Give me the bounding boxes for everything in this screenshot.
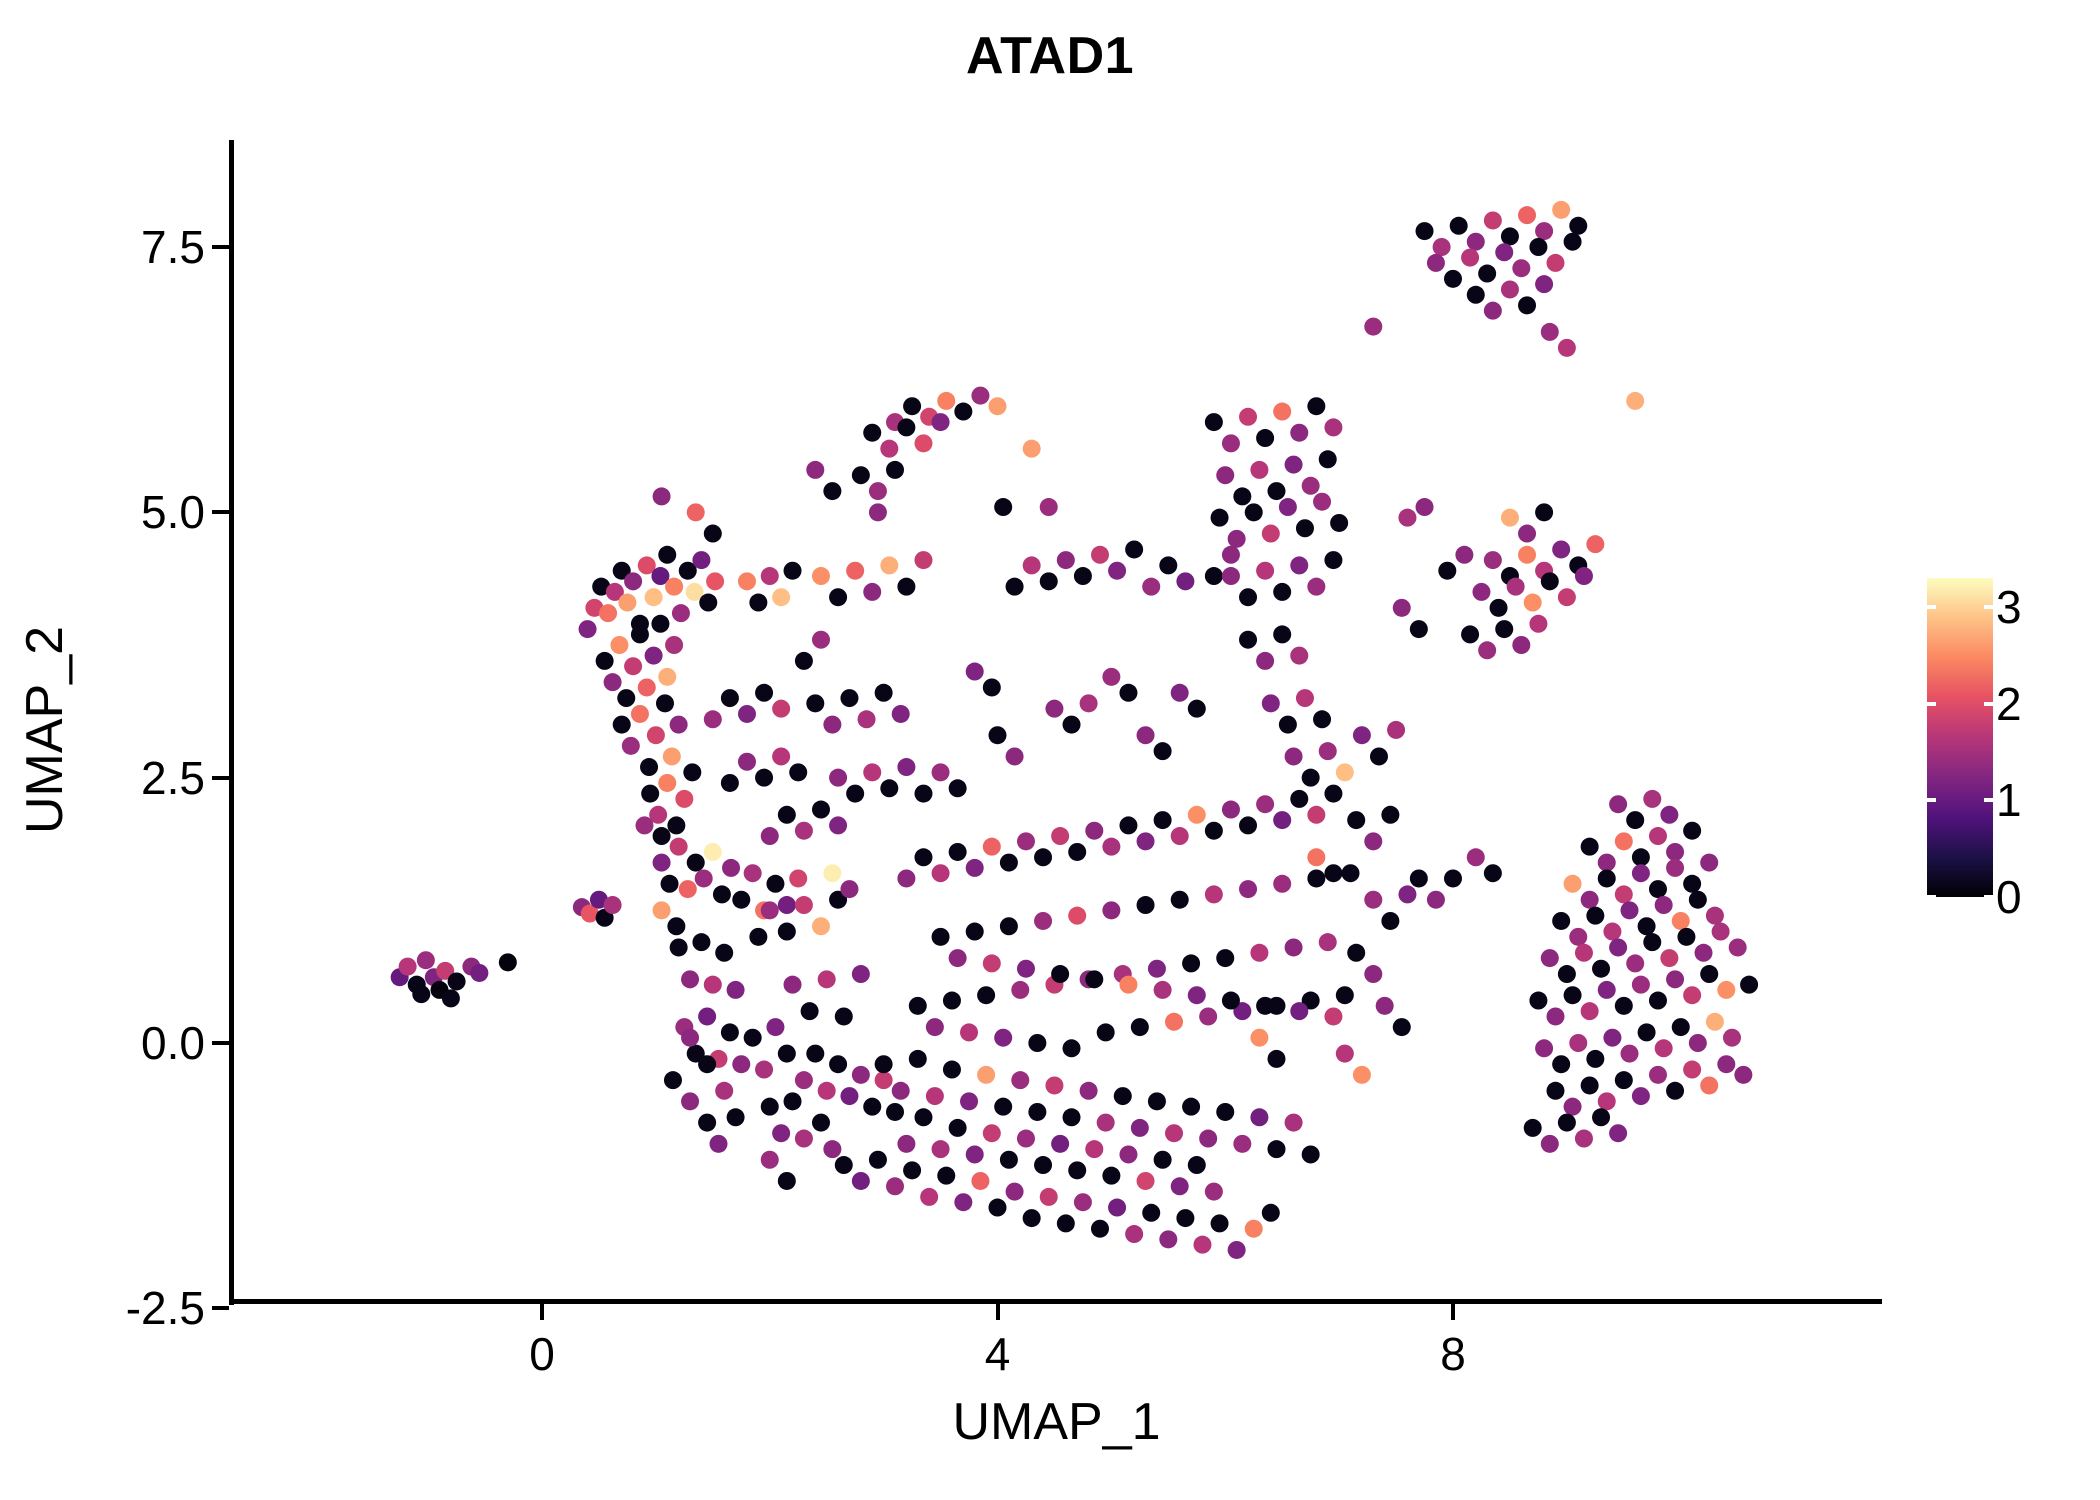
scatter-point (823, 1140, 841, 1158)
legend-tick-label: 0 (1996, 870, 2022, 924)
y-tick-mark (212, 1041, 229, 1045)
scatter-point (761, 567, 779, 585)
scatter-point (1564, 233, 1582, 251)
scatter-point (1302, 769, 1320, 787)
scatter-point (1313, 710, 1331, 728)
scatter-point (852, 1066, 870, 1084)
scatter-point (801, 1002, 819, 1020)
scatter-point (971, 387, 989, 405)
scatter-point (715, 1082, 733, 1100)
scatter-point (835, 1007, 853, 1025)
scatter-point (1080, 694, 1098, 712)
scatter-point (727, 1108, 745, 1126)
scatter-point (954, 403, 972, 421)
scatter-point (1410, 620, 1428, 638)
scatter-point (1040, 1188, 1058, 1206)
scatter-point (1581, 838, 1599, 856)
scatter-point (1416, 222, 1434, 240)
scatter-point (1119, 1145, 1137, 1163)
scatter-point (897, 578, 915, 596)
scatter-point (692, 551, 710, 569)
scatter-point (892, 1082, 910, 1100)
x-tick-label: 8 (1440, 1327, 1466, 1381)
scatter-point (829, 769, 847, 787)
scatter-point (1051, 827, 1069, 845)
scatter-point (596, 652, 614, 670)
scatter-point (818, 970, 836, 988)
scatter-point (1324, 864, 1342, 882)
scatter-point (1592, 1108, 1610, 1126)
scatter-point (1222, 801, 1240, 819)
scatter-point (1461, 625, 1479, 643)
scatter-point (1700, 854, 1718, 872)
scatter-point (640, 758, 658, 776)
scatter-point (875, 1055, 893, 1073)
scatter-point (1717, 1055, 1735, 1073)
scatter-point (670, 716, 688, 734)
scatter-point (1017, 960, 1035, 978)
scatter-point (1023, 1209, 1041, 1227)
scatter-point (1080, 1082, 1098, 1100)
scatter-point (715, 944, 733, 962)
scatter-point (778, 923, 796, 941)
scatter-point (1023, 556, 1041, 574)
scatter-point (812, 917, 830, 935)
scatter-point (1666, 970, 1684, 988)
scatter-point (635, 816, 653, 834)
scatter-point (1193, 1236, 1211, 1254)
scatter-point (1216, 949, 1234, 967)
scatter-point (966, 923, 984, 941)
scatter-point (932, 864, 950, 882)
scatter-point (1706, 907, 1724, 925)
scatter-point (645, 647, 663, 665)
color-legend (1927, 578, 1993, 897)
scatter-point (932, 1140, 950, 1158)
scatter-point (1279, 498, 1297, 516)
scatter-point (1569, 1034, 1587, 1052)
scatter-point (1228, 1241, 1246, 1259)
scatter-point (1302, 1145, 1320, 1163)
scatter-point (823, 716, 841, 734)
scatter-point (1051, 965, 1069, 983)
scatter-point (1051, 1135, 1069, 1153)
scatter-point (880, 440, 898, 458)
scatter-point (1581, 1002, 1599, 1020)
scatter-point (1564, 986, 1582, 1004)
scatter-point (1666, 859, 1684, 877)
scatter-point (863, 1098, 881, 1116)
scatter-point (1558, 1114, 1576, 1132)
scatter-point (1621, 901, 1639, 919)
scatter-point (1689, 1034, 1707, 1052)
scatter-point (1643, 790, 1661, 808)
scatter-point (1142, 578, 1160, 596)
scatter-point (778, 1045, 796, 1063)
scatter-point (1461, 249, 1479, 267)
scatter-point (1171, 827, 1189, 845)
scatter-point (1176, 1209, 1194, 1227)
scatter-point (1324, 785, 1342, 803)
scatter-point (732, 891, 750, 909)
scatter-point (1211, 509, 1229, 527)
scatter-point (1324, 1007, 1342, 1025)
scatter-point (1666, 1082, 1684, 1100)
scatter-point (1154, 981, 1172, 999)
scatter-point (618, 594, 636, 612)
scatter-point (1011, 1071, 1029, 1089)
scatter-point (744, 864, 762, 882)
scatter-point (1057, 1214, 1075, 1232)
scatter-point (1398, 509, 1416, 527)
scatter-point (1273, 403, 1291, 421)
scatter-point (1000, 1151, 1018, 1169)
scatter-point (1319, 933, 1337, 951)
scatter-point (1626, 954, 1644, 972)
scatter-point (1342, 864, 1360, 882)
scatter-point (1068, 907, 1086, 925)
scatter-point (1626, 811, 1644, 829)
scatter-point (1034, 848, 1052, 866)
scatter-point (1239, 631, 1257, 649)
scatter-point (784, 562, 802, 580)
scatter-point (914, 848, 932, 866)
scatter-point (1581, 891, 1599, 909)
scatter-point (631, 705, 649, 723)
scatter-point (869, 1151, 887, 1169)
scatter-point (1045, 1076, 1063, 1094)
scatter-point (1632, 848, 1650, 866)
scatter-point (949, 779, 967, 797)
scatter-point (1171, 891, 1189, 909)
scatter-point (1068, 1161, 1086, 1179)
scatter-point (937, 1167, 955, 1185)
scatter-point (604, 896, 622, 914)
scatter-point (795, 896, 813, 914)
scatter-point (1296, 519, 1314, 537)
scatter-point (1484, 864, 1502, 882)
scatter-point (1700, 1076, 1718, 1094)
scatter-point (1057, 551, 1075, 569)
scatter-point (670, 938, 688, 956)
scatter-point (937, 392, 955, 410)
scatter-point (721, 1023, 739, 1041)
scatter-point (1176, 572, 1194, 590)
scatter-point (1655, 896, 1673, 914)
scatter-point (778, 806, 796, 824)
scatter-point (1586, 1050, 1604, 1068)
scatter-point (1256, 652, 1274, 670)
scatter-point (840, 880, 858, 898)
scatter-point (1410, 869, 1428, 887)
scatter-point (610, 636, 628, 654)
scatter-point (1114, 1087, 1132, 1105)
scatter-point (1364, 318, 1382, 336)
scatter-point (1740, 976, 1758, 994)
scatter-point (863, 583, 881, 601)
scatter-point (624, 657, 642, 675)
scatter-point (1490, 599, 1508, 617)
scatter-point (665, 578, 683, 596)
legend-tick-mark (1984, 895, 1993, 899)
scatter-point (1353, 1066, 1371, 1084)
scatter-point (667, 917, 685, 935)
legend-tick-mark (1927, 605, 1936, 609)
scatter-point (1393, 599, 1411, 617)
scatter-point (1484, 302, 1502, 320)
legend-tick-mark (1927, 895, 1936, 899)
scatter-point (1416, 498, 1434, 516)
scatter-point (1564, 1098, 1582, 1116)
scatter-point (1205, 885, 1223, 903)
scatter-point (903, 397, 921, 415)
scatter-point (858, 710, 876, 728)
scatter-point (1137, 896, 1155, 914)
scatter-point (1273, 811, 1291, 829)
scatter-point (1621, 1045, 1639, 1063)
scatter-point (920, 1188, 938, 1206)
scatter-point (653, 854, 671, 872)
scatter-point (1586, 907, 1604, 925)
scatter-point (1535, 222, 1553, 240)
scatter-point (1063, 1039, 1081, 1057)
scatter-point (1512, 259, 1530, 277)
scatter-point (1438, 562, 1456, 580)
scatter-point (721, 774, 739, 792)
scatter-point (1603, 1029, 1621, 1047)
scatter-point (1267, 1050, 1285, 1068)
scatter-point (1017, 1130, 1035, 1148)
scatter-point (886, 461, 904, 479)
scatter-point (863, 424, 881, 442)
scatter-point (1638, 1023, 1656, 1041)
scatter-point (823, 864, 841, 882)
scatter-point (1467, 286, 1485, 304)
scatter-point (1672, 1018, 1690, 1036)
y-tick-mark (212, 1306, 229, 1310)
y-tick-label: 2.5 (141, 751, 205, 805)
scatter-point (704, 843, 722, 861)
scatter-point (949, 1119, 967, 1137)
scatter-point (1137, 726, 1155, 744)
scatter-point (706, 572, 724, 590)
y-tick-mark (212, 245, 229, 249)
scatter-point (772, 588, 790, 606)
scatter-point (943, 1061, 961, 1079)
scatter-point (1427, 254, 1445, 272)
scatter-point (1558, 588, 1576, 606)
scatter-point (926, 1018, 944, 1036)
scatter-point (1324, 418, 1342, 436)
scatter-point (812, 631, 830, 649)
scatter-point (1119, 816, 1137, 834)
scatter-point (1387, 721, 1405, 739)
scatter-point (604, 673, 622, 691)
scatter-point (914, 1108, 932, 1126)
scatter-point (663, 747, 681, 765)
scatter-point (1615, 997, 1633, 1015)
scatter-point (638, 678, 656, 696)
scatter-point (994, 498, 1012, 516)
scatter-point (806, 461, 824, 479)
scatter-point (1632, 1087, 1650, 1105)
scatter-point (994, 1098, 1012, 1116)
scatter-point (897, 869, 915, 887)
scatter-point (1586, 535, 1604, 553)
scatter-point (1552, 540, 1570, 558)
scatter-point (1137, 1172, 1155, 1190)
scatter-point (1006, 747, 1024, 765)
scatter-point (1085, 970, 1103, 988)
scatter-point (1529, 992, 1547, 1010)
scatter-point (1581, 1076, 1599, 1094)
scatter-point (778, 1172, 796, 1190)
scatter-point (914, 434, 932, 452)
scatter-point (713, 885, 731, 903)
scatter-point (1302, 477, 1320, 495)
scatter-point (698, 1055, 716, 1073)
scatter-point (892, 705, 910, 723)
scatter-point (1364, 965, 1382, 983)
scatter-point (1444, 869, 1462, 887)
scatter-point (749, 594, 767, 612)
scatter-point (1239, 408, 1257, 426)
scatter-point (1290, 556, 1308, 574)
scatter-point (1250, 944, 1268, 962)
scatter-point (1119, 976, 1137, 994)
scatter-point (983, 678, 1001, 696)
scatter-point (1040, 498, 1058, 516)
scatter-point (1655, 1039, 1673, 1057)
scatter-point (1165, 1124, 1183, 1142)
scatter-point (806, 694, 824, 712)
scatter-point (1307, 869, 1325, 887)
scatter-point (1336, 1045, 1354, 1063)
scatter-point (789, 763, 807, 781)
scatter-point (966, 663, 984, 681)
scatter-point (721, 689, 739, 707)
y-tick-mark (212, 510, 229, 514)
scatter-point (886, 1103, 904, 1121)
scatter-point (1518, 546, 1536, 564)
scatter-point (1518, 206, 1536, 224)
scatter-point (1575, 944, 1593, 962)
scatter-point (1592, 960, 1610, 978)
scatter-point (949, 843, 967, 861)
scatter-point (795, 1130, 813, 1148)
scatter-point (1188, 806, 1206, 824)
scatter-point (749, 928, 767, 946)
scatter-point (1222, 434, 1240, 452)
scatter-point (1609, 938, 1627, 956)
scatter-point (1154, 742, 1172, 760)
scatter-point (622, 737, 640, 755)
x-tick-mark (996, 1303, 1000, 1320)
scatter-point (1393, 1018, 1411, 1036)
scatter-point (897, 1135, 915, 1153)
scatter-point (1267, 1140, 1285, 1158)
scatter-point (699, 594, 717, 612)
scatter-point (1643, 933, 1661, 951)
scatter-point (1353, 726, 1371, 744)
scatter-point (1695, 944, 1713, 962)
scatter-point (818, 1082, 836, 1100)
scatter-point (1700, 965, 1718, 983)
scatter-point (1632, 864, 1650, 882)
scatter-point (1524, 594, 1542, 612)
scatter-point (1102, 668, 1120, 686)
scatter-point (1085, 822, 1103, 840)
scatter-point (1512, 636, 1530, 654)
y-tick-label: 0.0 (141, 1016, 205, 1070)
scatter-point (672, 604, 690, 622)
scatter-point (738, 753, 756, 771)
scatter-point (1239, 880, 1257, 898)
scatter-point (1609, 1124, 1627, 1142)
scatter-point (1040, 572, 1058, 590)
scatter-point (812, 567, 830, 585)
scatter-point (1541, 1135, 1559, 1153)
scatter-point (1137, 832, 1155, 850)
scatter-point (846, 785, 864, 803)
scatter-point (1313, 493, 1331, 511)
scatter-point (656, 694, 674, 712)
scatter-point (1535, 503, 1553, 521)
scatter-point (442, 989, 460, 1007)
scatter-point (1524, 1119, 1542, 1137)
scatter-point (914, 551, 932, 569)
scatter-point (1575, 1130, 1593, 1148)
scatter-point (932, 763, 950, 781)
scatter-point (875, 1071, 893, 1089)
scatter-point (1262, 525, 1280, 543)
x-axis-title: UMAP_1 (233, 1392, 1880, 1452)
scatter-point (653, 487, 671, 505)
scatter-point (1398, 885, 1416, 903)
scatter-point (1564, 875, 1582, 893)
scatter-point (1518, 525, 1536, 543)
scatter-point (1188, 700, 1206, 718)
scatter-point (880, 556, 898, 574)
scatter-point (1501, 227, 1519, 245)
scatter-point (755, 684, 773, 702)
scatter-point (903, 1161, 921, 1179)
scatter-point (1074, 1193, 1092, 1211)
scatter-point (1159, 556, 1177, 574)
scatter-point (1319, 450, 1337, 468)
scatter-point (647, 726, 665, 744)
scatter-point (1273, 625, 1291, 643)
scatter-point (812, 801, 830, 819)
scatter-point (681, 1029, 699, 1047)
scatter-point (1649, 1066, 1667, 1084)
scatter-point (954, 1193, 972, 1211)
scatter-point (727, 981, 745, 999)
scatter-point (624, 572, 642, 590)
scatter-point (1125, 1225, 1143, 1243)
scatter-point (1165, 1013, 1183, 1031)
scatter-point (1615, 885, 1633, 903)
scatter-point (755, 1061, 773, 1079)
scatter-point (989, 1199, 1007, 1217)
scatter-point (914, 785, 932, 803)
scatter-point (949, 949, 967, 967)
scatter-point (1615, 832, 1633, 850)
scatter-point (932, 928, 950, 946)
scatter-point (926, 1087, 944, 1105)
plot-panel (233, 140, 1880, 1302)
scatter-point (1535, 1039, 1553, 1057)
